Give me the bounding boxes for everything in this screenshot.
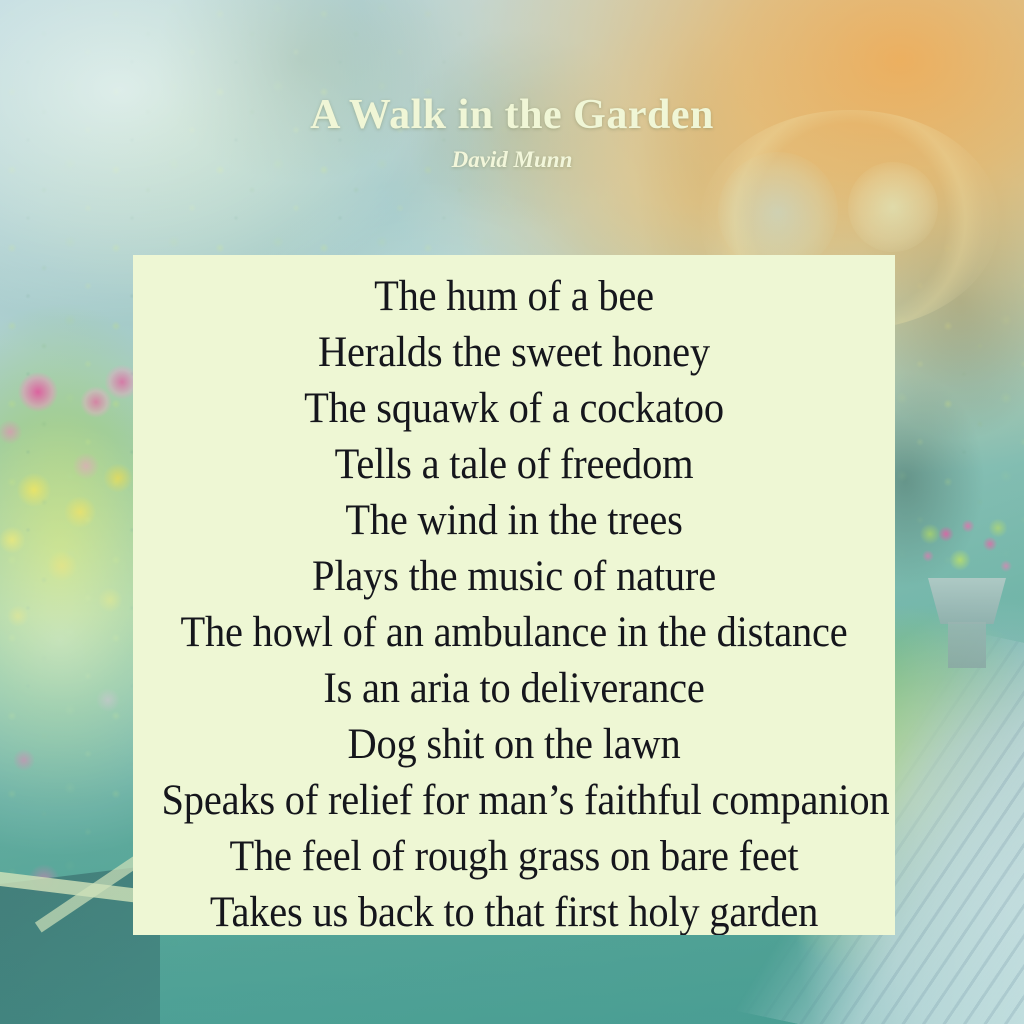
poem-line: The feel of rough grass on bare feet <box>162 829 867 885</box>
poem-panel: The hum of a bee Heralds the sweet honey… <box>133 255 895 935</box>
poem-line: Plays the music of nature <box>162 549 867 605</box>
poem-line: Heralds the sweet honey <box>162 325 867 381</box>
poem-line: Is an aria to deliverance <box>162 661 867 717</box>
poem-line: The squawk of a cockatoo <box>162 381 867 437</box>
poem-line: Speaks of relief for man’s faithful comp… <box>162 773 867 829</box>
poem-line: The wind in the trees <box>162 493 867 549</box>
poem-line: Takes us back to that first holy garden <box>162 885 867 935</box>
poem-line: Dog shit on the lawn <box>162 717 867 773</box>
poem-line: The hum of a bee <box>162 269 867 325</box>
poem-line: Tells a tale of freedom <box>162 437 867 493</box>
poem-card: A Walk in the Garden David Munn The hum … <box>0 0 1024 1024</box>
poem-line: The howl of an ambulance in the distance <box>162 605 867 661</box>
